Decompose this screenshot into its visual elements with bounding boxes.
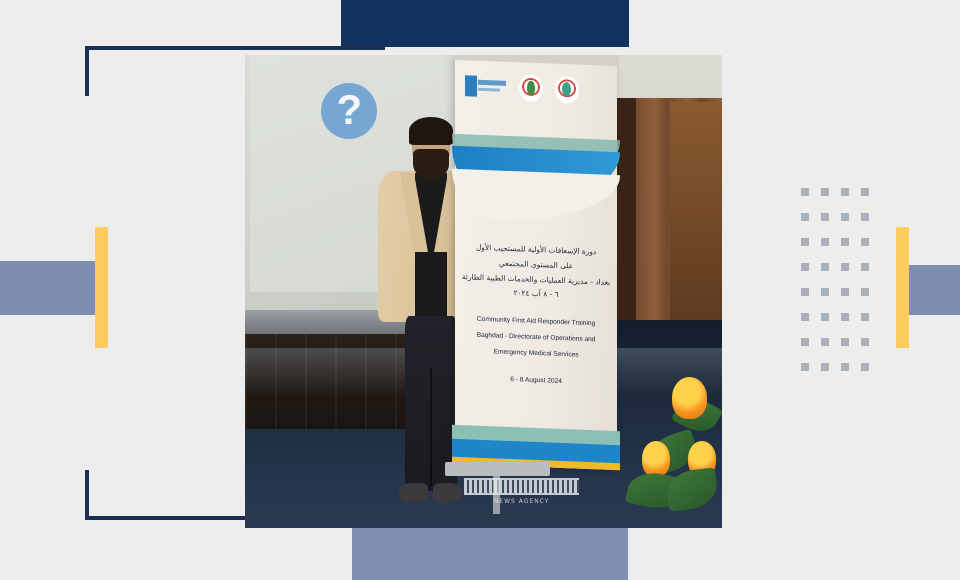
wood-paneling-right bbox=[670, 102, 722, 324]
banner-base-stand bbox=[445, 462, 550, 476]
decor-dot bbox=[801, 288, 809, 296]
banner-english-text: Community First Aid Responder Training B… bbox=[461, 311, 610, 364]
decor-slate-bar-right bbox=[909, 265, 960, 315]
decor-dot bbox=[841, 263, 849, 271]
presenter-beard bbox=[413, 149, 450, 179]
decor-dot bbox=[841, 363, 849, 371]
watermark-logo-icon bbox=[464, 478, 578, 495]
featured-image-canvas: ? bbox=[0, 0, 960, 580]
decor-dot bbox=[861, 288, 869, 296]
decor-dot bbox=[841, 288, 849, 296]
presenter-shoe-right bbox=[433, 483, 462, 503]
decor-dot bbox=[861, 338, 869, 346]
decor-slate-band-bottom bbox=[352, 527, 628, 580]
partner-logo-teal-icon bbox=[554, 75, 578, 104]
presenter-leg-separation bbox=[430, 368, 432, 487]
banner-top-rail bbox=[453, 55, 618, 66]
decor-dot bbox=[801, 238, 809, 246]
decor-dot bbox=[861, 363, 869, 371]
decor-dot bbox=[801, 213, 809, 221]
decor-dot bbox=[841, 338, 849, 346]
decor-dot bbox=[861, 188, 869, 196]
decor-yellow-bar-right bbox=[896, 227, 909, 348]
presenter-shoe-left bbox=[399, 483, 428, 503]
decor-dot bbox=[821, 213, 829, 221]
decor-dot bbox=[801, 188, 809, 196]
decor-dot bbox=[821, 363, 829, 371]
decor-dot bbox=[841, 313, 849, 321]
decor-dot bbox=[861, 313, 869, 321]
decor-dot bbox=[821, 338, 829, 346]
decorative-plant bbox=[617, 367, 722, 528]
plant-flower bbox=[672, 377, 708, 419]
banner-logo-row bbox=[465, 69, 608, 107]
decor-dot bbox=[801, 313, 809, 321]
decor-dot bbox=[841, 188, 849, 196]
decor-dot bbox=[801, 338, 809, 346]
decor-dot bbox=[821, 238, 829, 246]
banner-arabic-text: دورة الإسعافات الأولية للمستجيب الأول عل… bbox=[461, 240, 610, 305]
decor-yellow-bar-left bbox=[95, 227, 108, 348]
plant-flower bbox=[642, 441, 669, 476]
decor-dot bbox=[801, 363, 809, 371]
decor-navy-band-top bbox=[341, 0, 629, 47]
banner-wave-white bbox=[452, 168, 621, 223]
decor-dot bbox=[861, 238, 869, 246]
decor-slate-bar-left bbox=[0, 261, 96, 315]
watermark-subtext: NEWS AGENCY bbox=[464, 498, 578, 505]
partner-logo-green-icon bbox=[519, 74, 543, 103]
decor-dot bbox=[821, 313, 829, 321]
photo-watermark: NEWS AGENCY bbox=[464, 478, 578, 505]
decor-dot bbox=[821, 188, 829, 196]
presenter-hair bbox=[409, 117, 452, 145]
rollup-banner: دورة الإسعافات الأولية للمستجيب الأول عل… bbox=[455, 57, 617, 470]
plant-leaf bbox=[666, 468, 720, 512]
who-logo bbox=[465, 75, 508, 97]
featured-photo: ? bbox=[245, 55, 722, 528]
decor-dot bbox=[801, 263, 809, 271]
decor-dot bbox=[841, 213, 849, 221]
decor-dot-grid bbox=[801, 188, 881, 388]
decor-dot bbox=[821, 263, 829, 271]
banner-date: 6 - 8 August 2024 bbox=[461, 374, 610, 387]
decor-dot bbox=[861, 213, 869, 221]
decor-dot bbox=[861, 263, 869, 271]
decor-dot bbox=[841, 238, 849, 246]
decor-dot bbox=[821, 288, 829, 296]
